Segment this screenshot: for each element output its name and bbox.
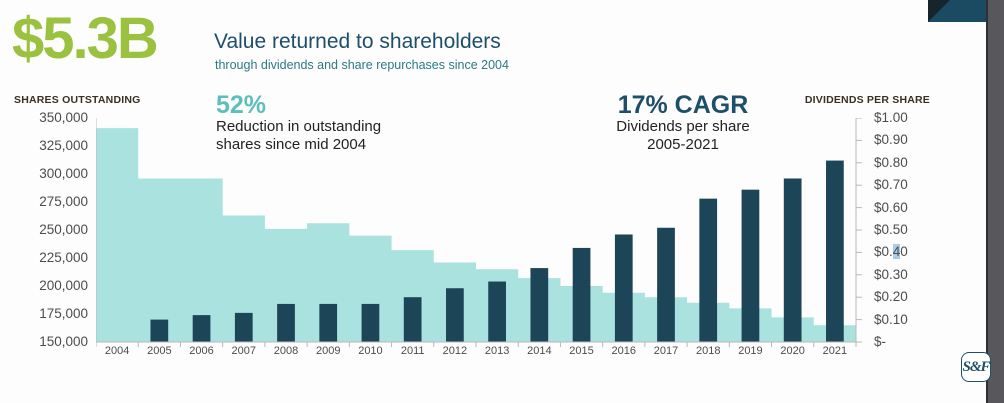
dividend-bar xyxy=(404,297,422,342)
x-axis-tick-label: 2010 xyxy=(358,345,382,357)
dividend-bar xyxy=(277,304,295,342)
x-axis-tick-label: 2008 xyxy=(274,345,298,357)
dividend-bar xyxy=(530,268,548,342)
left-axis-tick: 200,000 xyxy=(39,279,88,293)
x-axis-tick-label: 2005 xyxy=(147,345,171,357)
x-axis-tick-label: 2014 xyxy=(527,345,551,357)
dividend-bar xyxy=(573,248,591,342)
dividend-bar xyxy=(150,320,168,342)
left-axis-tick: 150,000 xyxy=(39,335,88,349)
dividend-bar xyxy=(784,178,802,342)
x-axis-tick-label: 2013 xyxy=(485,345,509,357)
callout-cagr-line2: 2005-2021 xyxy=(608,136,758,154)
dividend-bar xyxy=(488,282,506,342)
right-scroll-rail[interactable] xyxy=(986,0,1004,403)
callout-cagr-headline: 17% CAGR xyxy=(608,92,758,118)
callout-shares-line2: shares since mid 2004 xyxy=(216,136,381,154)
x-axis-tick-label: 2017 xyxy=(654,345,678,357)
right-axis-title: DIVIDENDS PER SHARE xyxy=(805,94,930,106)
x-axis-tick-label: 2016 xyxy=(612,345,636,357)
dividend-bar xyxy=(826,161,844,342)
callout-shares-reduction: 52% Reduction in outstanding shares sinc… xyxy=(216,92,381,154)
left-axis-tick: 350,000 xyxy=(39,111,88,125)
x-axis-tick-label: 2006 xyxy=(189,345,213,357)
dividend-bar xyxy=(362,304,380,342)
hero-amount: $5.3B xyxy=(12,10,157,68)
dividend-bar xyxy=(657,228,675,342)
x-axis-tick-label: 2007 xyxy=(232,345,256,357)
left-axis-tick: 175,000 xyxy=(39,307,88,321)
hero-title: Value returned to shareholders xyxy=(214,30,501,54)
slide-canvas: $5.3B Value returned to shareholders thr… xyxy=(0,0,1004,403)
left-axis-tick: 325,000 xyxy=(39,139,88,153)
left-axis-tick: 225,000 xyxy=(39,251,88,265)
company-logo: S&F xyxy=(961,352,991,382)
left-axis-title: SHARES OUTSTANDING xyxy=(14,94,141,106)
corner-accent-triangle xyxy=(928,0,950,22)
dividend-bar xyxy=(699,199,717,342)
callout-shares-headline: 52% xyxy=(216,92,381,118)
x-axis-tick-label: 2019 xyxy=(738,345,762,357)
dividend-bar xyxy=(319,304,337,342)
dividend-bar xyxy=(742,190,760,342)
x-axis-tick-label: 2018 xyxy=(696,345,720,357)
dividend-bar xyxy=(193,315,211,342)
hero-subtitle: through dividends and share repurchases … xyxy=(215,58,509,72)
x-axis-tick-label: 2015 xyxy=(569,345,593,357)
x-axis-tick-label: 2004 xyxy=(105,345,129,357)
x-axis-tick-label: 2009 xyxy=(316,345,340,357)
x-axis-tick-label: 2020 xyxy=(780,345,804,357)
x-axis-tick-label: 2011 xyxy=(401,345,425,357)
callout-shares-line1: Reduction in outstanding xyxy=(216,118,381,136)
callout-cagr-line1: Dividends per share xyxy=(608,118,758,136)
text-selection-highlight: 4 xyxy=(893,244,901,259)
left-axis-tick: 300,000 xyxy=(39,167,88,181)
x-axis-labels: 2004200520062007200820092010201120122013… xyxy=(96,345,856,361)
dividend-bar xyxy=(615,234,633,342)
callout-dividend-cagr: 17% CAGR Dividends per share 2005-2021 xyxy=(608,92,758,154)
dividend-bar xyxy=(235,313,253,342)
left-axis-tick: 275,000 xyxy=(39,195,88,209)
dividend-bar xyxy=(446,288,464,342)
left-axis-tick: 250,000 xyxy=(39,223,88,237)
x-axis-tick-label: 2012 xyxy=(443,345,467,357)
x-axis-tick-label: 2021 xyxy=(823,345,847,357)
